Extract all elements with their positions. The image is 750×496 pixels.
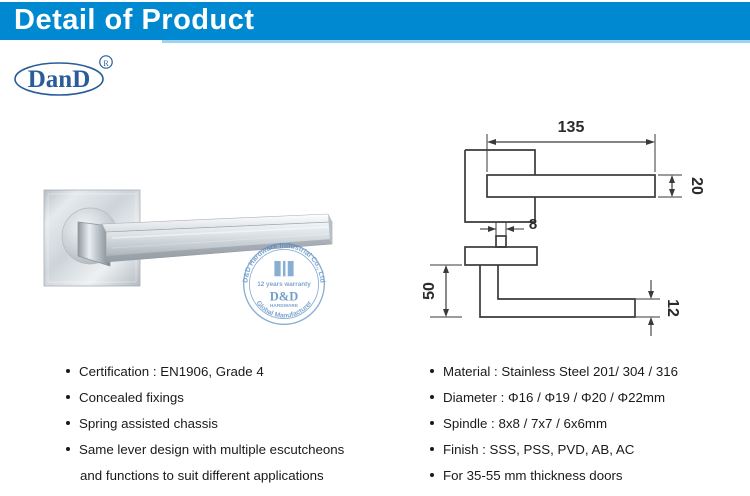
page-title: Detail of Product <box>14 3 255 37</box>
dimension-label-thickness: 12 <box>664 299 681 317</box>
spec-text: Diameter : Φ16 / Φ19 / Φ20 / Φ22mm <box>443 390 665 405</box>
bullet-icon <box>66 369 70 373</box>
dimension-label-length: 135 <box>558 119 585 136</box>
dand-logo: DanD R <box>12 52 124 98</box>
spec-text: Same lever design with multiple escutche… <box>79 442 344 457</box>
list-item: Certification : EN1906, Grade 4 <box>66 364 396 379</box>
spec-text: Spindle : 8x8 / 7x7 / 6x6mm <box>443 416 607 431</box>
watermark-brand-text: D&D <box>270 289 298 303</box>
specification-list-left: Certification : EN1906, Grade 4 Conceale… <box>66 364 396 494</box>
list-item: Concealed fixings <box>66 390 396 405</box>
spec-text: Spring assisted chassis <box>79 416 218 431</box>
bullet-icon <box>66 447 70 451</box>
dimension-label-projection: 50 <box>421 282 438 300</box>
list-item: Same lever design with multiple escutche… <box>66 442 396 483</box>
header-underline-accent <box>0 40 162 43</box>
list-item: Spindle : 8x8 / 7x7 / 6x6mm <box>430 416 740 431</box>
spec-text-continuation: and functions to suit different applicat… <box>80 468 396 483</box>
bullet-icon <box>430 369 434 373</box>
registered-trademark-icon: R <box>103 59 109 68</box>
specification-list-right: Material : Stainless Steel 201/ 304 / 31… <box>430 364 740 494</box>
list-item: Material : Stainless Steel 201/ 304 / 31… <box>430 364 740 379</box>
list-item: Finish : SSS, PSS, PVD, AB, AC <box>430 442 740 457</box>
list-item: For 35-55 mm thickness doors <box>430 468 740 483</box>
dimension-label-spindle: 8 <box>529 216 537 233</box>
company-watermark-stamp: D&D Hardware Industrial Co., Ltd 12 year… <box>236 236 332 332</box>
spec-text: Material : Stainless Steel 201/ 304 / 31… <box>443 364 678 379</box>
bullet-icon <box>430 447 434 451</box>
list-item: Spring assisted chassis <box>66 416 396 431</box>
list-item: Diameter : Φ16 / Φ19 / Φ20 / Φ22mm <box>430 390 740 405</box>
header-underline-light <box>162 40 750 43</box>
bullet-icon <box>66 395 70 399</box>
watermark-warranty-text: 12 years warranty <box>257 281 311 288</box>
spec-text: Finish : SSS, PSS, PVD, AB, AC <box>443 442 634 457</box>
logo-wordmark: DanD <box>28 66 91 93</box>
watermark-brand-sub-text: HARDWARE <box>270 303 298 309</box>
bullet-icon <box>430 395 434 399</box>
dimension-label-height: 20 <box>688 177 705 195</box>
spec-text: Concealed fixings <box>79 390 184 405</box>
spec-text: Certification : EN1906, Grade 4 <box>79 364 264 379</box>
technical-drawing: 135 20 8 50 12 <box>420 112 740 342</box>
bullet-icon <box>430 421 434 425</box>
bullet-icon <box>430 473 434 477</box>
spec-text: For 35-55 mm thickness doors <box>443 468 623 483</box>
bullet-icon <box>66 421 70 425</box>
